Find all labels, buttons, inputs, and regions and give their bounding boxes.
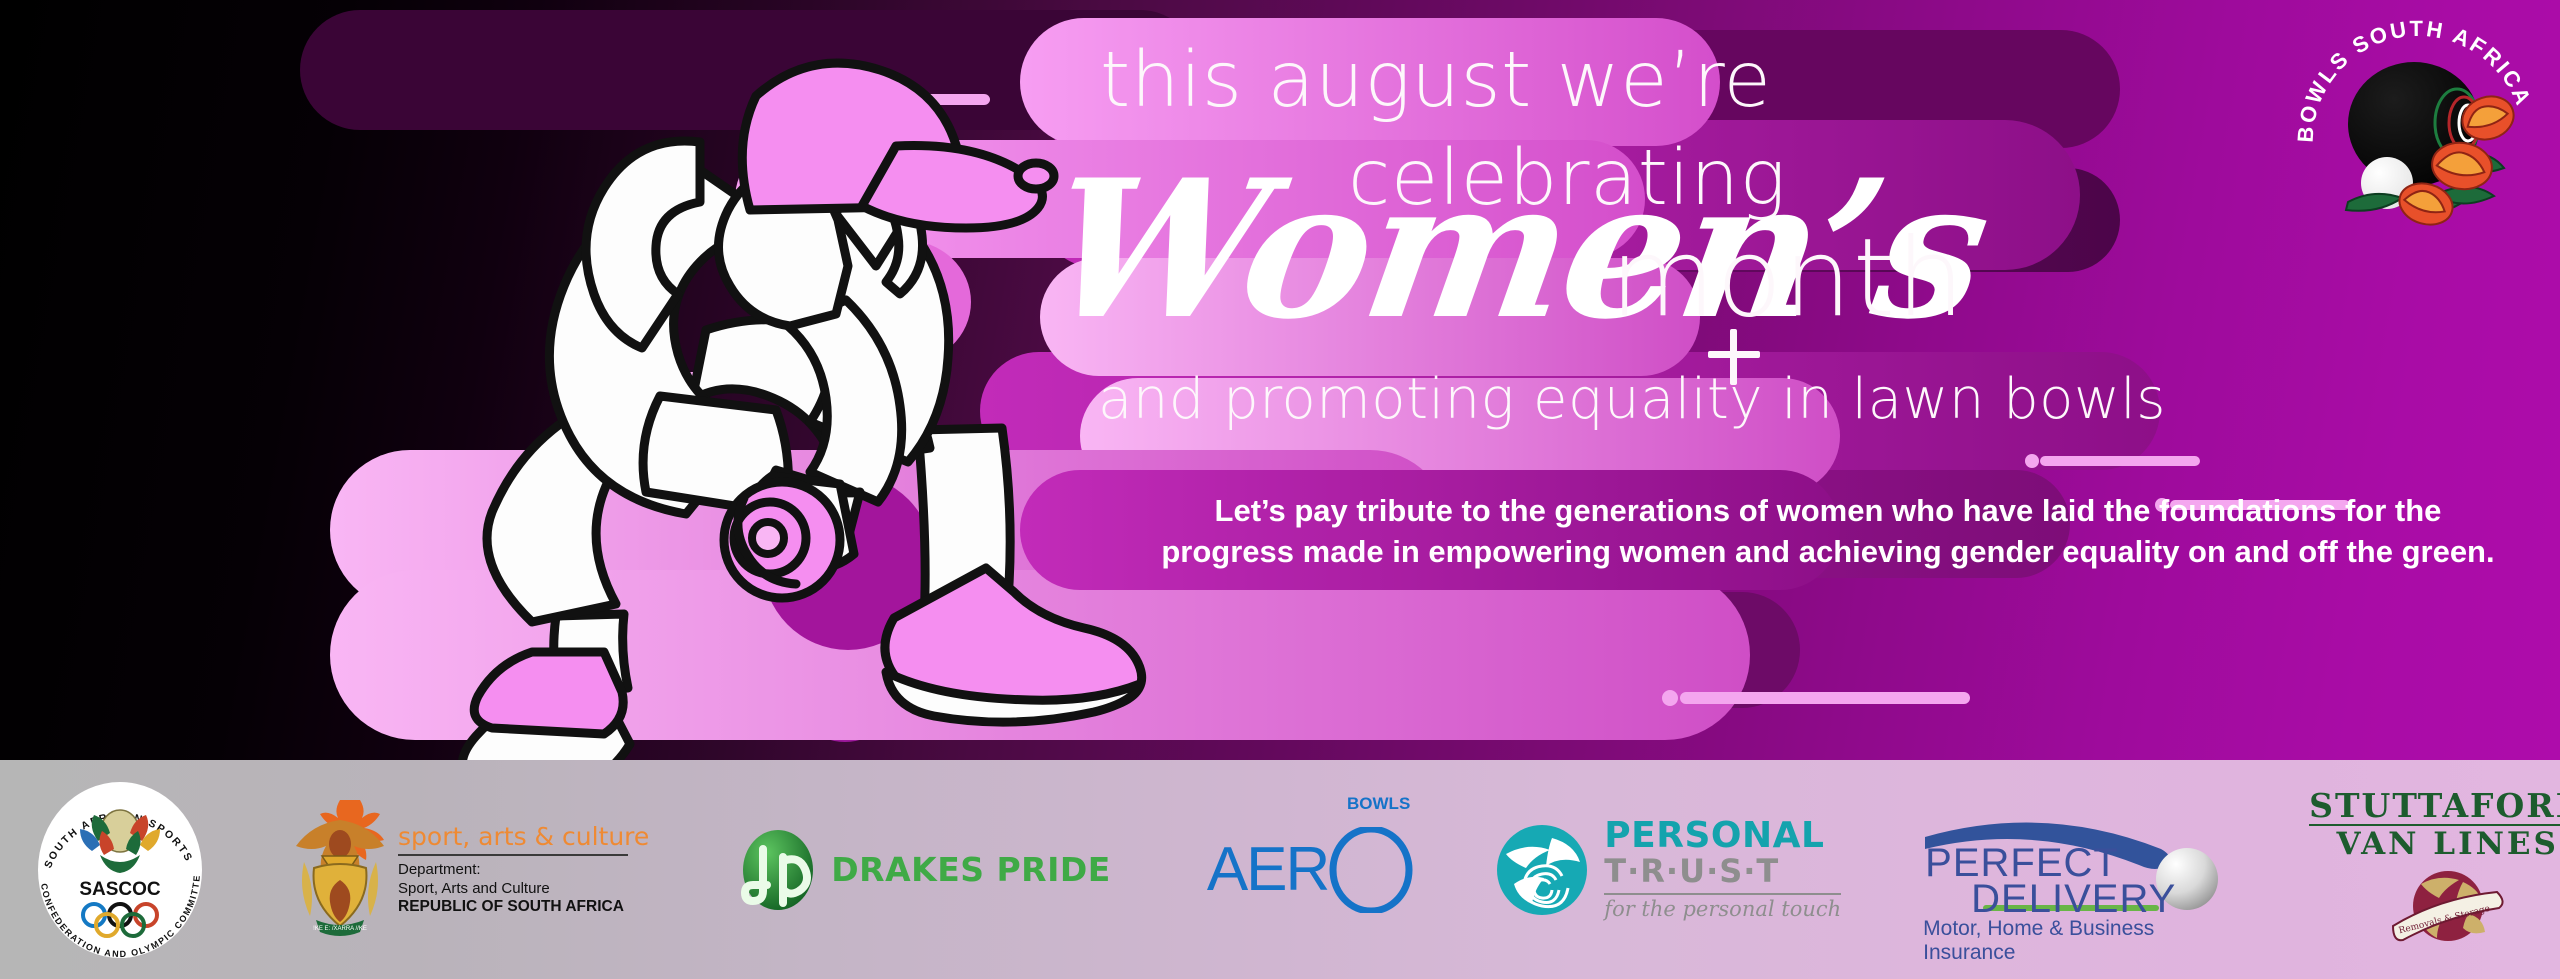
stuttaford-line1: STUTTAFORD [2309,789,2560,822]
sponsor-dsac[interactable]: !KE E: /XARRA //KE sport, arts & culture… [292,760,649,979]
aero-wordmark: AER [1207,834,1328,905]
personal-trust-line1: PERSONAL [1604,818,1841,854]
sponsor-perfect-delivery[interactable]: PERFECT DELIVERY Motor, Home & Business … [1919,805,2249,935]
svg-text:!KE E: /XARRA //KE: !KE E: /XARRA //KE [313,926,367,932]
sponsor-bar: SOUTH AFRICAN SPORTS CONFEDERATION AND O… [0,760,2560,979]
personal-trust-globe-icon [1492,820,1592,920]
stuttaford-globe-banner-icon: Removals & Storage [2373,864,2523,946]
sponsor-personal-trust[interactable]: PERSONAL T·R·U·S·T for the personal touc… [1492,760,1841,979]
dsac-country: REPUBLIC OF SOUTH AFRICA [398,898,649,916]
personal-trust-tagline: for the personal touch [1604,897,1841,921]
aero-bowls-subwordmark: BOWLS [1347,794,1410,814]
sascoc-logo: SOUTH AFRICAN SPORTS CONFEDERATION AND O… [20,775,220,965]
sponsor-stuttaford-van-lines[interactable]: STUTTAFORD VAN LINES Removals & Storage [2309,760,2560,979]
aero-o-ring-icon [1328,827,1414,913]
dsac-text-block: sport, arts & culture Department: Sport,… [398,823,649,916]
womens-month-banner: this august we’re celebrating Women’s mo… [0,0,2560,979]
headline-line-1: this august we’re [1100,42,1771,119]
personal-trust-divider [1604,893,1841,895]
drakes-pride-wordmark: DRAKES PRIDE [831,850,1111,889]
hero-section: this august we’re celebrating Women’s mo… [0,0,2560,760]
venus-symbol-cross-icon [1708,351,1760,358]
dsac-department-name: Sport, Arts and Culture [398,880,649,898]
subhead-line: and promoting equality in lawn bowls [1098,372,2166,428]
drakes-pride-monogram-icon [739,827,817,913]
perfect-delivery-line2: DELIVERY [1971,877,2176,922]
dsac-divider [398,854,628,856]
body-paragraph: Let’s pay tribute to the generations of … [1148,490,2508,572]
month-word-wrap: month [1610,225,1966,333]
sponsor-drakes-pride[interactable]: DRAKES PRIDE [739,760,1111,979]
bowls-south-africa-logo: BOWLS SOUTH AFRICA [2292,6,2542,256]
cap-button [1018,163,1054,189]
stuttaford-line2: VAN LINES [2309,829,2560,860]
sa-coat-of-arms-icon: !KE E: /XARRA //KE [292,790,388,950]
personal-trust-line2: T·R·U·S·T [1604,854,1841,889]
sascoc-acronym: SASCOC [79,879,161,900]
dsac-department-label: Department: [398,861,649,879]
sponsor-sascoc[interactable]: SOUTH AFRICAN SPORTS CONFEDERATION AND O… [0,760,220,979]
sponsor-aero-bowls[interactable]: AER BOWLS [1207,760,1414,979]
dsac-brand-line: sport, arts & culture [398,823,649,851]
personal-trust-text: PERSONAL T·R·U·S·T for the personal touc… [1604,818,1841,920]
month-word: month [1610,225,1966,333]
perfect-delivery-tagline: Motor, Home & Business Insurance [1923,917,2249,965]
